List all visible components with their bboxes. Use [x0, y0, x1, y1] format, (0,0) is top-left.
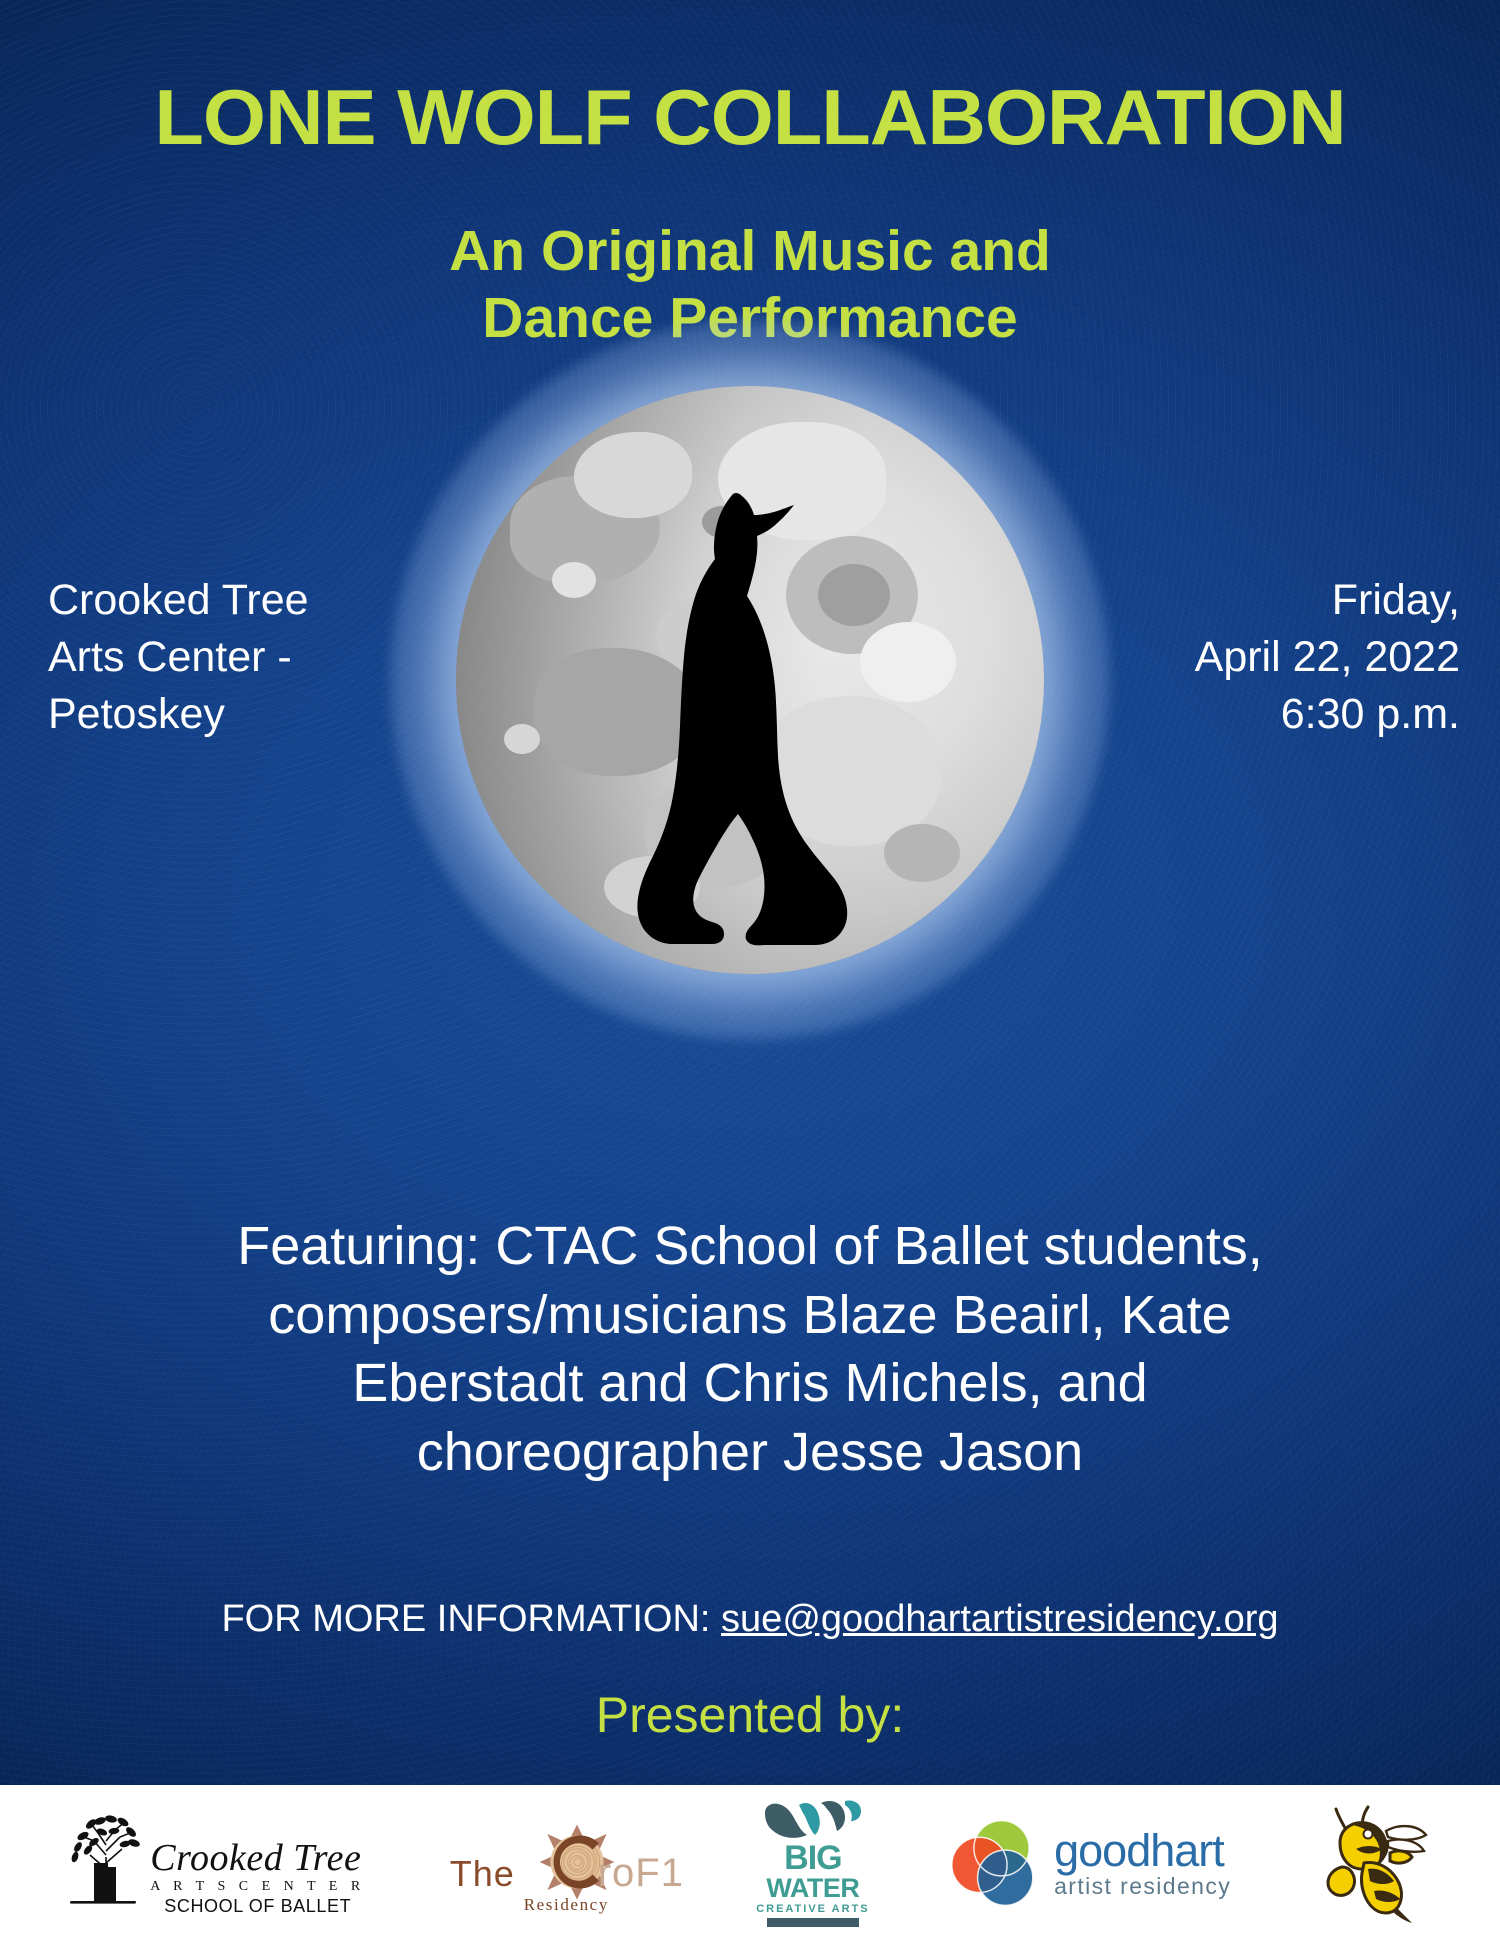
event-time: 6:30 p.m. [1100, 686, 1460, 743]
contact-line: FOR MORE INFORMATION: sue@goodhartartist… [0, 1598, 1500, 1641]
featuring-block: Featuring: CTAC School of Ballet student… [0, 1212, 1500, 1486]
sponsor-sub-school-of-ballet: SCHOOL OF BALLET [150, 1897, 365, 1915]
featuring-line-2: composers/musicians Blaze Beairl, Kate [78, 1281, 1422, 1350]
bigwater-creative-arts-text: CREATIVE ARTS [756, 1904, 869, 1915]
venue-block: Crooked Tree Arts Center - Petoskey [48, 572, 378, 742]
goodhart-sub-text: artist residency [1054, 1875, 1231, 1898]
bee-mascot-icon [1312, 1803, 1436, 1923]
wave-icon [763, 1799, 863, 1841]
sponsor-logo-crooked-tree-arts-center[interactable]: Crooked Tree A R T S C E N T E R SCHOOL … [64, 1811, 365, 1915]
featuring-line-4: choreographer Jesse Jason [78, 1418, 1422, 1487]
sponsor-logo-yellow-jacket-bee[interactable] [1312, 1803, 1436, 1923]
event-day: Friday, [1100, 572, 1460, 629]
croft-the-text: The [450, 1853, 515, 1895]
venue-line-1: Crooked Tree [48, 572, 378, 629]
featuring-line-1: Featuring: CTAC School of Ballet student… [78, 1212, 1422, 1281]
bigwater-big-text: BIG [784, 1841, 841, 1875]
poster-canvas: LONE WOLF COLLABORATION An Original Musi… [0, 0, 1500, 1941]
event-date: April 22, 2022 [1100, 629, 1460, 686]
featuring-line-3: Eberstadt and Chris Michels, and [78, 1349, 1422, 1418]
sponsor-logo-big-water-creative-arts[interactable]: BIG WATER CREATIVE ARTS [756, 1799, 869, 1927]
sponsor-logo-goodhart-artist-residency[interactable]: goodhart artist residency [950, 1817, 1231, 1909]
goodhart-name-text: goodhart [1054, 1828, 1231, 1873]
subtitle-line-1: An Original Music and [0, 218, 1500, 285]
croft-rof-text: roF1 [598, 1851, 684, 1896]
bigwater-water-text: WATER [766, 1875, 859, 1902]
sponsor-sub-arts-center: A R T S C E N T E R [150, 1880, 365, 1894]
sponsor-logo-bar: Crooked Tree A R T S C E N T E R SCHOOL … [0, 1785, 1500, 1941]
presented-by-label: Presented by: [0, 1686, 1500, 1744]
contact-label: FOR MORE INFORMATION: [221, 1598, 710, 1640]
bigwater-underbar [767, 1918, 859, 1927]
datetime-block: Friday, April 22, 2022 6:30 p.m. [1100, 572, 1460, 742]
howling-wolf-silhouette-icon [600, 488, 900, 958]
sponsor-logo-the-croft-residency[interactable]: The roF1 Residency [446, 1809, 676, 1917]
sponsor-name-crooked-tree: Crooked Tree [150, 1839, 365, 1877]
page-title: LONE WOLF COLLABORATION [0, 78, 1500, 156]
three-circles-icon [950, 1817, 1042, 1909]
tree-icon [64, 1811, 148, 1915]
venue-line-3: Petoskey [48, 686, 378, 743]
croft-residency-text: Residency [524, 1895, 609, 1915]
venue-line-2: Arts Center - [48, 629, 378, 686]
contact-email-link[interactable]: sue@goodhartartistresidency.org [721, 1598, 1279, 1640]
